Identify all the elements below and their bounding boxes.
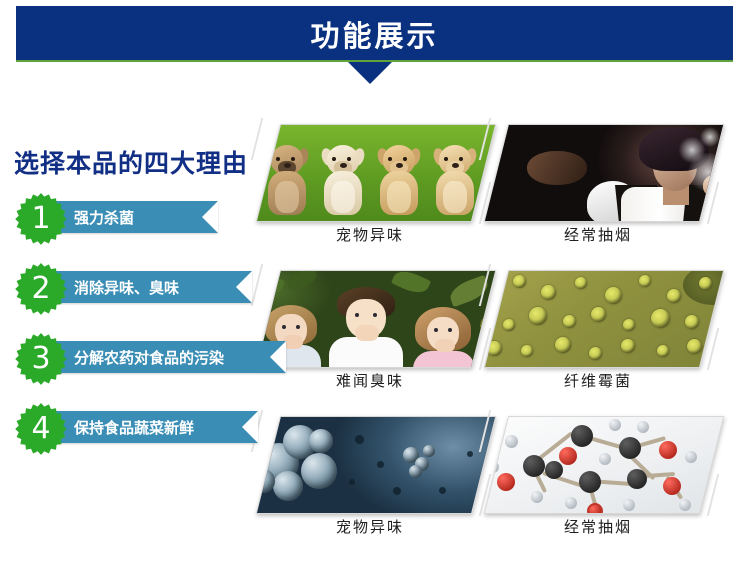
gallery-item[interactable]: 经常抽烟 <box>490 120 734 266</box>
list-item[interactable]: 分解农药对食品的污染 3 <box>0 328 290 398</box>
gallery-caption: 宠物异味 <box>262 224 478 245</box>
banner-bar: 功能展示 <box>16 6 733 62</box>
gallery-caption: 宠物异味 <box>262 516 478 537</box>
decor-slash <box>707 474 719 516</box>
gallery-caption: 难闻臭味 <box>262 370 478 391</box>
image-puppies <box>256 125 496 221</box>
reasons-list: 强力杀菌 1 消除异味、臭味 2 <box>0 188 290 468</box>
gallery-caption: 经常抽烟 <box>490 516 706 537</box>
gallery-item[interactable]: 宠物异味 <box>262 412 506 558</box>
gallery-caption: 经常抽烟 <box>490 224 706 245</box>
image-mold <box>484 271 724 367</box>
list-item[interactable]: 消除异味、臭味 2 <box>0 258 290 328</box>
page-banner: 功能展示 <box>0 0 750 100</box>
gallery-item[interactable]: 纤维霉菌 <box>490 266 734 412</box>
reason-ribbon: 强力杀菌 <box>46 201 218 233</box>
banner-arrow-icon <box>348 62 392 84</box>
decor-slash <box>707 328 719 370</box>
feature-gallery: 宠物异味 <box>262 120 750 560</box>
page-title: 功能展示 <box>16 6 733 62</box>
gallery-image-frame <box>256 416 496 514</box>
gallery-image-frame <box>484 124 724 222</box>
reason-ribbon: 分解农药对食品的污染 <box>46 341 286 373</box>
reason-badge-icon: 1 <box>14 192 68 246</box>
image-smoker <box>484 125 724 221</box>
promo-page: 功能展示 选择本品的四大理由 强力杀菌 1 消 <box>0 0 750 579</box>
reason-label: 保持食品蔬菜新鲜 <box>46 417 224 438</box>
reason-ribbon: 保持食品蔬菜新鲜 <box>46 411 258 443</box>
reason-badge-icon: 3 <box>14 332 68 386</box>
image-bacteria <box>256 417 496 513</box>
reasons-heading: 选择本品的四大理由 <box>14 144 248 180</box>
reason-number: 1 <box>14 192 68 246</box>
gallery-item[interactable]: 宠物异味 <box>262 120 506 266</box>
image-molecule <box>484 417 724 513</box>
reason-badge-icon: 4 <box>14 402 68 456</box>
gallery-item[interactable]: 难闻臭味 <box>262 266 506 412</box>
gallery-image-frame <box>256 270 496 368</box>
reason-number: 4 <box>14 402 68 456</box>
reason-number: 3 <box>14 332 68 386</box>
image-kids <box>256 271 496 367</box>
gallery-image-frame <box>484 416 724 514</box>
reason-ribbon: 消除异味、臭味 <box>46 271 252 303</box>
list-item[interactable]: 强力杀菌 1 <box>0 188 290 258</box>
gallery-caption: 纤维霉菌 <box>490 370 706 391</box>
list-item[interactable]: 保持食品蔬菜新鲜 4 <box>0 398 290 468</box>
reason-number: 2 <box>14 262 68 316</box>
decor-slash <box>707 182 719 224</box>
reason-label: 分解农药对食品的污染 <box>46 347 254 368</box>
reasons-panel: 选择本品的四大理由 强力杀菌 1 消除异味、臭味 <box>0 140 290 470</box>
gallery-image-frame <box>484 270 724 368</box>
gallery-item[interactable]: 经常抽烟 <box>490 412 734 558</box>
reason-badge-icon: 2 <box>14 262 68 316</box>
reason-label: 消除异味、臭味 <box>46 277 209 298</box>
gallery-image-frame <box>256 124 496 222</box>
